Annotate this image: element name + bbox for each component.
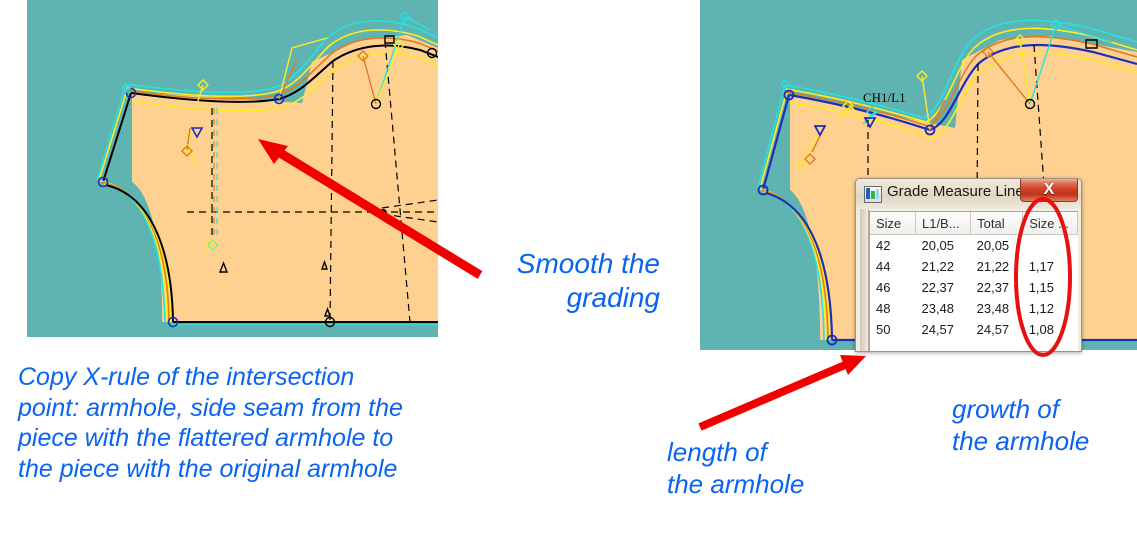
cell-growth: 1,15 <box>1023 277 1078 298</box>
table-row[interactable]: 42 20,05 20,05 <box>870 235 1078 257</box>
cell-size: 42 <box>870 235 915 257</box>
column-header-l1b[interactable]: L1/B... <box>915 212 970 235</box>
cell-l1b: 22,37 <box>915 277 970 298</box>
window-body: Size L1/B... Total Size ... 42 20,05 20,… <box>860 209 1077 351</box>
grade-table-pane: Size L1/B... Total Size ... 42 20,05 20,… <box>869 211 1078 352</box>
cell-growth: 1,17 <box>1023 256 1078 277</box>
table-header-row: Size L1/B... Total Size ... <box>870 212 1078 235</box>
grade-measure-icon <box>864 186 882 203</box>
cell-total: 20,05 <box>971 235 1023 257</box>
cell-l1b: 24,57 <box>915 319 970 340</box>
cell-l1b: 20,05 <box>915 235 970 257</box>
column-header-size[interactable]: Size <box>870 212 915 235</box>
window-title: Grade Measure Line <box>887 183 1024 200</box>
close-icon-glyph: X <box>1021 178 1077 201</box>
close-icon[interactable]: X <box>1020 178 1078 202</box>
grade-measure-line-window[interactable]: Grade Measure Line X Size L1/B... Total … <box>855 178 1082 352</box>
annotation-smooth-the-grading: Smooth the grading <box>494 247 660 315</box>
pattern-drawing-left <box>27 0 438 337</box>
annotation-length-of-armhole: length of the armhole <box>667 437 804 500</box>
table-row[interactable]: 46 22,37 22,37 1,15 <box>870 277 1078 298</box>
column-header-total[interactable]: Total <box>971 212 1023 235</box>
table-row[interactable]: 50 24,57 24,57 1,08 <box>870 319 1078 340</box>
annotation-growth-of-armhole: growth of the armhole <box>952 394 1089 457</box>
cell-l1b: 23,48 <box>915 298 970 319</box>
cell-size: 48 <box>870 298 915 319</box>
cad-label-ch1l1: CH1/L1 <box>863 90 906 105</box>
red-arrow-length <box>700 355 866 427</box>
cell-total: 22,37 <box>971 277 1023 298</box>
cell-size: 50 <box>870 319 915 340</box>
cell-l1b: 21,22 <box>915 256 970 277</box>
table-row[interactable]: 48 23,48 23,48 1,12 <box>870 298 1078 319</box>
cell-total: 21,22 <box>971 256 1023 277</box>
grade-measure-table: Size L1/B... Total Size ... 42 20,05 20,… <box>870 212 1078 340</box>
vertical-scrollbar[interactable] <box>860 209 869 351</box>
window-titlebar[interactable]: Grade Measure Line X <box>856 179 1081 209</box>
table-row[interactable]: 44 21,22 21,22 1,17 <box>870 256 1078 277</box>
cell-growth: 1,12 <box>1023 298 1078 319</box>
cell-growth: 1,08 <box>1023 319 1078 340</box>
cell-size: 46 <box>870 277 915 298</box>
annotation-copy-x-rule: Copy X-rule of the intersection point: a… <box>18 362 478 484</box>
cell-total: 23,48 <box>971 298 1023 319</box>
cell-size: 44 <box>870 256 915 277</box>
cell-growth <box>1023 235 1078 257</box>
cad-view-left[interactable] <box>27 0 438 337</box>
cell-total: 24,57 <box>971 319 1023 340</box>
column-header-size-growth[interactable]: Size ... <box>1023 212 1078 235</box>
